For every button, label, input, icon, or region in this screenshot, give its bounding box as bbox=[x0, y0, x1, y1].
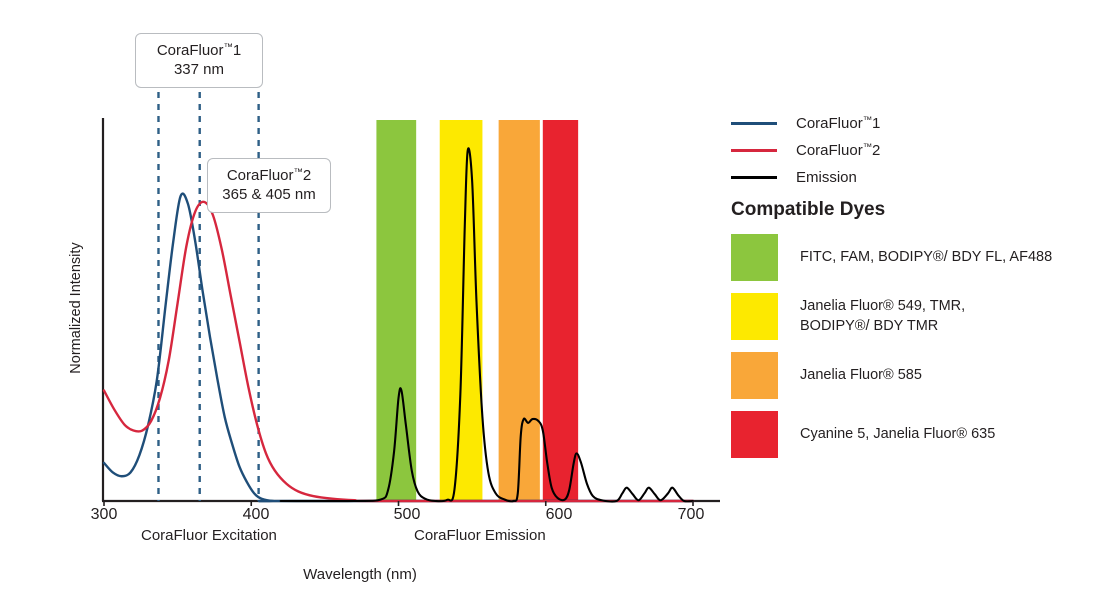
dye-label-orange-line1: Janelia Fluor® 585 bbox=[800, 366, 922, 385]
dye-label-yellow-line1: Janelia Fluor® 549, TMR, bbox=[800, 297, 965, 316]
dye-label-yellow: Janelia Fluor® 549, TMR, BODIPY®/ BDY TM… bbox=[800, 297, 965, 336]
legend-line-swatch-icon bbox=[731, 149, 777, 152]
callout-corafluor2: CoraFluor™2 365 & 405 nm bbox=[207, 158, 331, 213]
callout-corafluor1-title: CoraFluor™1 bbox=[148, 41, 250, 60]
xtick-300: 300 bbox=[74, 506, 134, 524]
legend-item-corafluor1: CoraFluor™1 bbox=[731, 110, 1101, 137]
compatible-dyes-heading: Compatible Dyes bbox=[731, 199, 885, 221]
legend-label-emission: Emission bbox=[796, 169, 857, 186]
compatible-dyes-list: FITC, FAM, BODIPY®/ BDY FL, AF488 Janeli… bbox=[731, 234, 1103, 470]
legend-item-emission: Emission bbox=[731, 164, 1101, 191]
callout-corafluor2-title: CoraFluor™2 bbox=[220, 166, 318, 185]
legend-label-corafluor2: CoraFluor™2 bbox=[796, 142, 880, 159]
dye-label-green-line1: FITC, FAM, BODIPY®/ BDY FL, AF488 bbox=[800, 248, 1052, 267]
x-axis-label: Wavelength (nm) bbox=[0, 566, 720, 583]
dye-label-yellow-line2: BODIPY®/ BDY TMR bbox=[800, 317, 965, 336]
dye-color-swatch-orange bbox=[731, 352, 778, 399]
dye-row-orange: Janelia Fluor® 585 bbox=[731, 352, 1103, 399]
xtick-500: 500 bbox=[377, 506, 437, 524]
xtick-600: 600 bbox=[529, 506, 589, 524]
series-legend: CoraFluor™1 CoraFluor™2 Emission bbox=[731, 110, 1101, 191]
legend-item-corafluor2: CoraFluor™2 bbox=[731, 137, 1101, 164]
dye-row-green: FITC, FAM, BODIPY®/ BDY FL, AF488 bbox=[731, 234, 1103, 281]
dye-color-swatch-yellow bbox=[731, 293, 778, 340]
callout-corafluor2-value: 365 & 405 nm bbox=[220, 185, 318, 204]
legend-line-swatch-icon bbox=[731, 176, 777, 179]
green-band bbox=[376, 120, 416, 501]
legend-line-swatch-icon bbox=[731, 122, 777, 125]
dye-color-swatch-red bbox=[731, 411, 778, 458]
dye-color-swatch-green bbox=[731, 234, 778, 281]
xtick-400: 400 bbox=[226, 506, 286, 524]
sublabel-excitation: CoraFluor Excitation bbox=[141, 527, 277, 544]
sublabel-emission: CoraFluor Emission bbox=[414, 527, 546, 544]
legend-label-corafluor1: CoraFluor™1 bbox=[796, 115, 880, 132]
dye-label-orange: Janelia Fluor® 585 bbox=[800, 366, 922, 385]
y-axis-label: Normalized Intensity bbox=[68, 208, 84, 408]
dye-row-yellow: Janelia Fluor® 549, TMR, BODIPY®/ BDY TM… bbox=[731, 293, 1103, 340]
dye-label-red: Cyanine 5, Janelia Fluor® 635 bbox=[800, 425, 995, 444]
dye-label-green: FITC, FAM, BODIPY®/ BDY FL, AF488 bbox=[800, 248, 1052, 267]
dye-row-red: Cyanine 5, Janelia Fluor® 635 bbox=[731, 411, 1103, 458]
fluorescence-spectra-figure: CoraFluor™1 337 nm CoraFluor™2 365 & 405… bbox=[0, 0, 1110, 612]
dye-label-red-line1: Cyanine 5, Janelia Fluor® 635 bbox=[800, 425, 995, 444]
callout-corafluor1-value: 337 nm bbox=[148, 60, 250, 79]
callout-corafluor1: CoraFluor™1 337 nm bbox=[135, 33, 263, 88]
series-curve-emission bbox=[281, 148, 693, 501]
xtick-700: 700 bbox=[661, 506, 721, 524]
red-band bbox=[543, 120, 578, 501]
